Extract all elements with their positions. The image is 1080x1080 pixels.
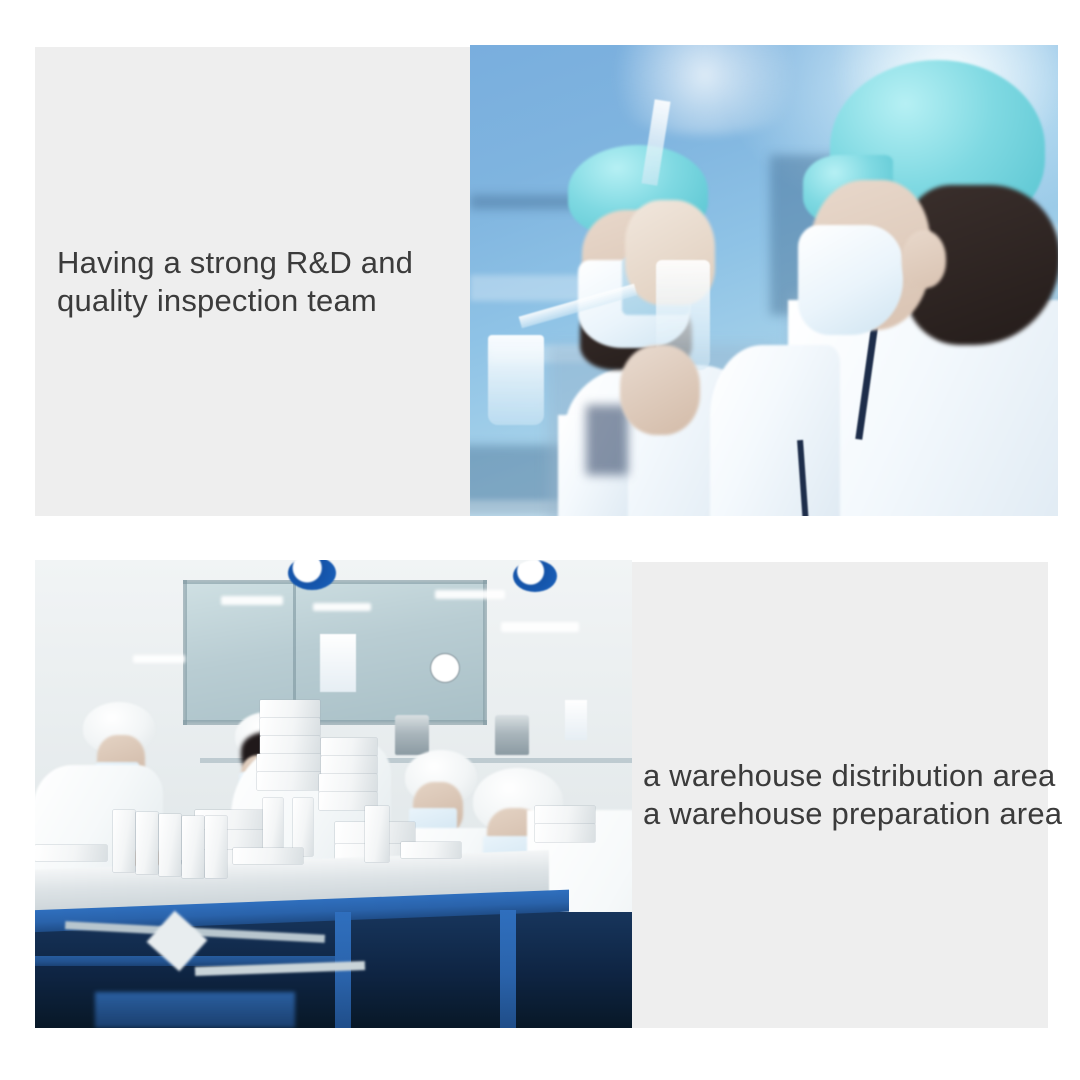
product-carton-8 <box>365 806 389 862</box>
product-carton-3 <box>159 814 181 876</box>
caption-line-3: a warehouse distribution area <box>643 757 1048 795</box>
stainless-container-1 <box>395 715 429 755</box>
carton-stack-back-3 <box>260 736 320 754</box>
right-technician-ear <box>902 230 946 288</box>
product-carton-2 <box>136 812 158 874</box>
ceiling-light-glow <box>590 45 820 135</box>
left-technician-collar <box>586 405 628 475</box>
ceiling-lamp-1 <box>221 596 283 605</box>
rnd-quality-caption: Having a strong R&D and quality inspecti… <box>57 244 472 320</box>
caption-line-2: quality inspection team <box>57 282 472 320</box>
product-carton-4 <box>182 816 204 878</box>
flat-carton-3 <box>401 842 461 858</box>
window-frame-top <box>183 580 487 584</box>
rnd-quality-caption-panel: Having a strong R&D and quality inspecti… <box>35 47 472 516</box>
stainless-container-2 <box>495 715 529 755</box>
table-leg-2 <box>500 910 516 1028</box>
lab-inspection-photo <box>470 45 1058 516</box>
company-logo-badge-2 <box>513 560 557 592</box>
ceiling-lamp-3 <box>435 590 505 599</box>
collage-page: Having a strong R&D and quality inspecti… <box>0 0 1080 1080</box>
window-frame-right <box>483 580 487 725</box>
wall-clock <box>430 653 460 683</box>
carton-stack-back-4 <box>257 754 321 772</box>
carton-stack-mid-2 <box>321 756 377 774</box>
warehouse-caption-panel: a warehouse distribution area a warehous… <box>632 562 1048 1028</box>
window-frame-bottom <box>183 720 487 725</box>
wall-notice-small <box>565 700 587 740</box>
lower-hand <box>620 345 700 435</box>
beaker <box>488 335 544 425</box>
flat-carton-4 <box>535 806 595 824</box>
lower-shelf-blue <box>95 992 295 1028</box>
product-carton-1 <box>113 810 135 872</box>
warehouse-caption: a warehouse distribution area a warehous… <box>643 757 1048 833</box>
carton-stack-mid-1 <box>321 738 377 756</box>
flat-carton-2 <box>233 848 303 864</box>
carton-stack-mid-3 <box>319 774 377 792</box>
window-frame-left <box>183 580 187 725</box>
carton-stack-back-2 <box>260 718 320 736</box>
wall-notice-board <box>320 634 356 692</box>
caption-line-1: Having a strong R&D and <box>57 244 472 282</box>
carton-stack-back-5 <box>257 772 321 790</box>
right-technician-arm <box>710 345 840 516</box>
flat-carton-5 <box>535 824 595 842</box>
ceiling-lamp-2 <box>313 603 371 611</box>
ceiling-lamp-4 <box>501 622 579 632</box>
warehouse-packaging-photo <box>35 560 632 1028</box>
product-carton-5 <box>205 816 227 878</box>
ceiling-lamp-5 <box>133 655 185 663</box>
caption-line-4: a warehouse preparation area <box>643 795 1048 833</box>
carton-stack-back-1 <box>260 700 320 718</box>
flat-carton-1 <box>35 845 107 861</box>
right-technician-face-mask <box>798 225 903 335</box>
